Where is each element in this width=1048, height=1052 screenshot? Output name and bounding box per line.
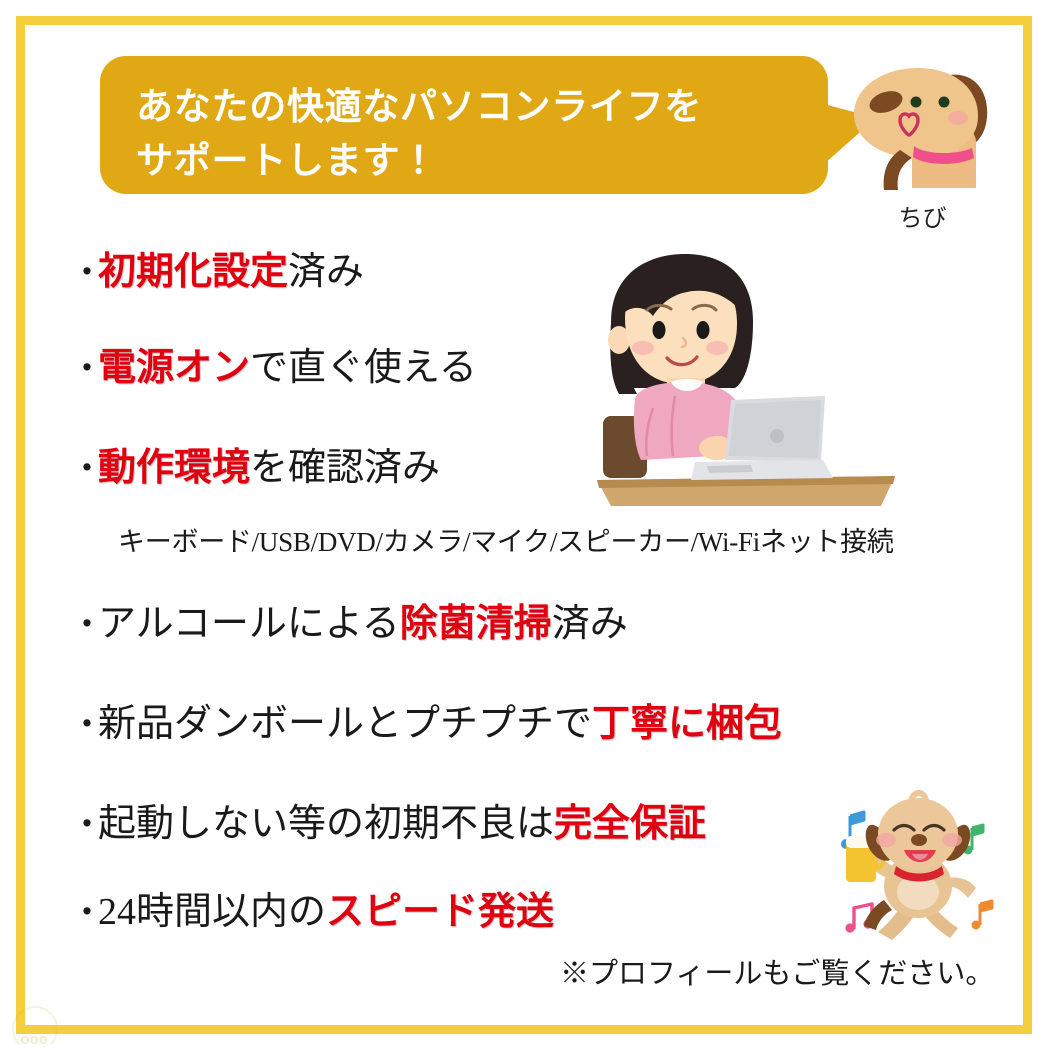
bullet-highlight: 丁寧に梱包 <box>592 703 782 745</box>
bullet-lead: 新品ダンボールとプチプチで <box>98 703 592 745</box>
bullet-highlight: 除菌清掃 <box>400 603 552 645</box>
dancing-dog-icon <box>820 780 1020 950</box>
bullet-text: 24時間以内のスピード発送 <box>98 892 554 934</box>
bullet-marker-icon: ・ <box>70 257 98 291</box>
bullet-marker-icon: ・ <box>70 353 98 387</box>
bullet-lead: アルコールによる <box>98 603 400 645</box>
bullet-text: 初期化設定済み <box>98 252 364 294</box>
list-item: ・ 起動しない等の初期不良は完全保証 <box>70 804 706 846</box>
list-item: ・ 24時間以内のスピード発送 <box>70 892 554 934</box>
bullet-text: 動作環境を確認済み <box>98 448 440 490</box>
bullet-marker-icon: ・ <box>70 809 98 843</box>
bullet-rest: 済み <box>288 251 364 293</box>
speech-bubble: あなたの快適なパソコンライフを サポートします！ <box>100 56 828 194</box>
woman-using-laptop-icon <box>575 248 920 513</box>
dog-head-icon <box>840 58 1005 193</box>
bullet-marker-icon: ・ <box>70 709 98 743</box>
bullet-marker-icon: ・ <box>70 897 98 931</box>
profile-footer-note: ※プロフィールもご覧ください。 <box>560 950 994 992</box>
dog-character-name: ちび <box>840 198 1005 233</box>
music-note-icon <box>972 901 993 930</box>
list-item: ・ アルコールによる除菌清掃済み <box>70 604 628 646</box>
bullet-text: アルコールによる除菌清掃済み <box>98 604 628 646</box>
promotional-listing-image: あなたの快適なパソコンライフを サポートします！ ちび <box>0 0 1048 1050</box>
speech-bubble-text: あなたの快適なパソコンライフを サポートします！ <box>136 80 808 187</box>
bullet-rest: で直ぐ使える <box>250 347 477 389</box>
bullet-text: 新品ダンボールとプチプチで丁寧に梱包 <box>98 704 782 746</box>
bullet-highlight: スピード発送 <box>326 891 554 933</box>
watermark-arc-icon <box>12 1006 58 1052</box>
bullet-text: 起動しない等の初期不良は完全保証 <box>98 804 706 846</box>
list-item: ・ 電源オンで直ぐ使える <box>70 348 477 390</box>
bullet-highlight: 初期化設定 <box>98 251 288 293</box>
bullet-highlight: 完全保証 <box>554 803 706 845</box>
bullet-lead: 起動しない等の初期不良は <box>98 803 554 845</box>
list-item: ・ 動作環境を確認済み <box>70 448 440 490</box>
supported-devices-note: キーボード/USB/DVD/カメラ/マイク/スピーカー/Wi-Fiネット接続 <box>118 520 894 559</box>
bullet-rest: 済み <box>552 603 628 645</box>
bullet-highlight: 動作環境 <box>98 447 250 489</box>
list-item: ・ 初期化設定済み <box>70 252 364 294</box>
bullet-highlight: 電源オン <box>98 347 250 389</box>
bullet-marker-icon: ・ <box>70 609 98 643</box>
bullet-marker-icon: ・ <box>70 453 98 487</box>
bullet-rest: を確認済み <box>250 447 440 489</box>
bullet-lead: 24時間以内の <box>98 891 326 933</box>
list-item: ・ 新品ダンボールとプチプチで丁寧に梱包 <box>70 704 782 746</box>
corner-watermark: ooo <box>8 1004 60 1048</box>
bullet-text: 電源オンで直ぐ使える <box>98 348 477 390</box>
